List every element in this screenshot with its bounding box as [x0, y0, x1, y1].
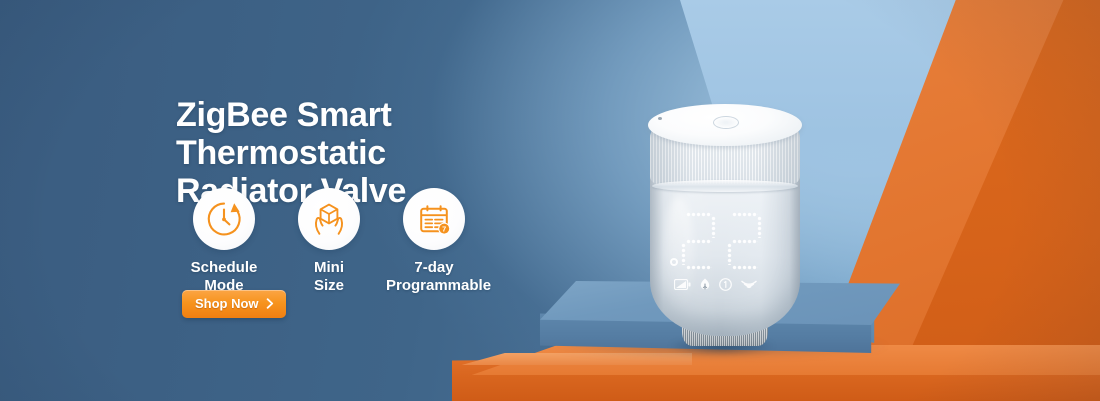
product-collar-seam — [652, 180, 798, 192]
clock-rotate-icon — [204, 199, 244, 239]
feature-icon-badge — [193, 188, 255, 250]
feature-item-mini-size[interactable]: Mini Size — [298, 188, 360, 294]
feature-list: Schedule Mode Mini Size — [176, 188, 482, 294]
temperature-digit-tens — [680, 212, 716, 270]
display-status-icons — [674, 274, 778, 294]
box-in-hands-icon — [309, 199, 349, 239]
battery-icon — [674, 279, 691, 290]
feature-item-7-day-programmable[interactable]: 7 7-day Programmable — [386, 188, 482, 294]
product-cap-logo — [713, 116, 739, 129]
feature-icon-badge — [298, 188, 360, 250]
feature-icon-badge: 7 — [403, 188, 465, 250]
chevron-right-icon — [266, 298, 274, 309]
feature-label: Mini Size — [298, 259, 360, 294]
calendar-badge-number: 7 — [442, 224, 446, 233]
feature-item-schedule-mode[interactable]: Schedule Mode — [176, 188, 272, 294]
temperature-digit-ones — [726, 212, 762, 270]
flame-droplet-icon — [700, 278, 710, 291]
shop-now-label: Shop Now — [195, 296, 259, 311]
circled-one-icon — [719, 278, 732, 291]
degree-symbol-icon — [670, 258, 678, 266]
product-led-display: 22 — [670, 212, 780, 296]
promo-banner: 22 — [0, 0, 1100, 401]
temperature-digits — [680, 212, 762, 270]
product-cap-sensor-dot — [658, 117, 662, 120]
wireless-signal-icon — [741, 279, 757, 290]
shop-now-button[interactable]: Shop Now — [182, 290, 286, 318]
product-thermostatic-valve: 22 — [630, 104, 810, 348]
feature-label: 7-day Programmable — [386, 259, 482, 294]
calendar-seven-icon: 7 — [414, 199, 454, 239]
